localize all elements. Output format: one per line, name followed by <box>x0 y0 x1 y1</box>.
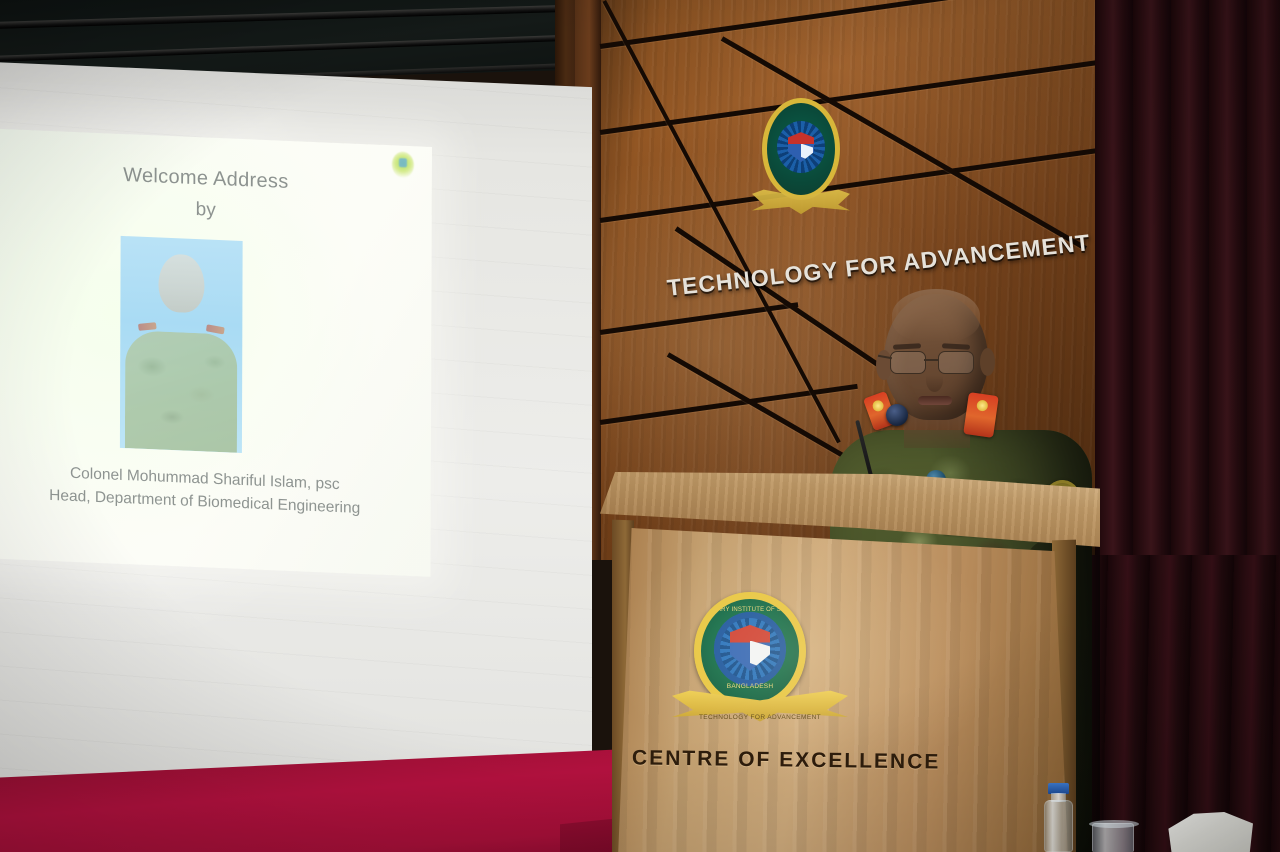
colonel-rank-insignia-icon <box>963 392 999 438</box>
podium-label-text: CENTRE OF EXCELLENCE <box>632 746 868 773</box>
mist-crest-podium-icon: MILITARY INSTITUTE OF SCIENCE AND TECHNO… <box>672 592 848 730</box>
glasses-icon <box>890 351 926 374</box>
speaker-ear <box>980 348 995 376</box>
glasses-bridge <box>924 359 938 361</box>
mist-crest-wall-icon <box>752 98 850 230</box>
glasses-icon <box>938 351 974 374</box>
podium-front-panel: MILITARY INSTITUTE OF SCIENCE AND TECHNO… <box>618 528 1068 852</box>
gooseneck-microphone-icon <box>886 404 908 426</box>
speaker-nose <box>926 368 943 392</box>
slide-corner-logo-icon <box>392 151 414 178</box>
crest-ribbon-text: TECHNOLOGY FOR ADVANCEMENT <box>672 714 848 721</box>
slide-caption: Colonel Mohummad Shariful Islam, psc Hea… <box>0 458 431 523</box>
water-bottle-icon <box>1042 783 1074 852</box>
speaker-mouth <box>918 396 952 405</box>
projected-slide: Welcome Address by Colonel Mohummad Shar… <box>0 128 432 577</box>
drinking-glass-icon <box>1092 823 1134 852</box>
crest-arc-top-text: MILITARY INSTITUTE OF SCIENCE AND TECHNO… <box>701 607 799 613</box>
crest-arc-bottom-text: BANGLADESH <box>701 683 799 690</box>
bottle-body <box>1044 800 1073 852</box>
photograph-scene: TECHNOLOGY FOR ADVANCEMENT Welcome Addre… <box>0 0 1280 852</box>
slide-portrait-photo <box>120 236 243 453</box>
